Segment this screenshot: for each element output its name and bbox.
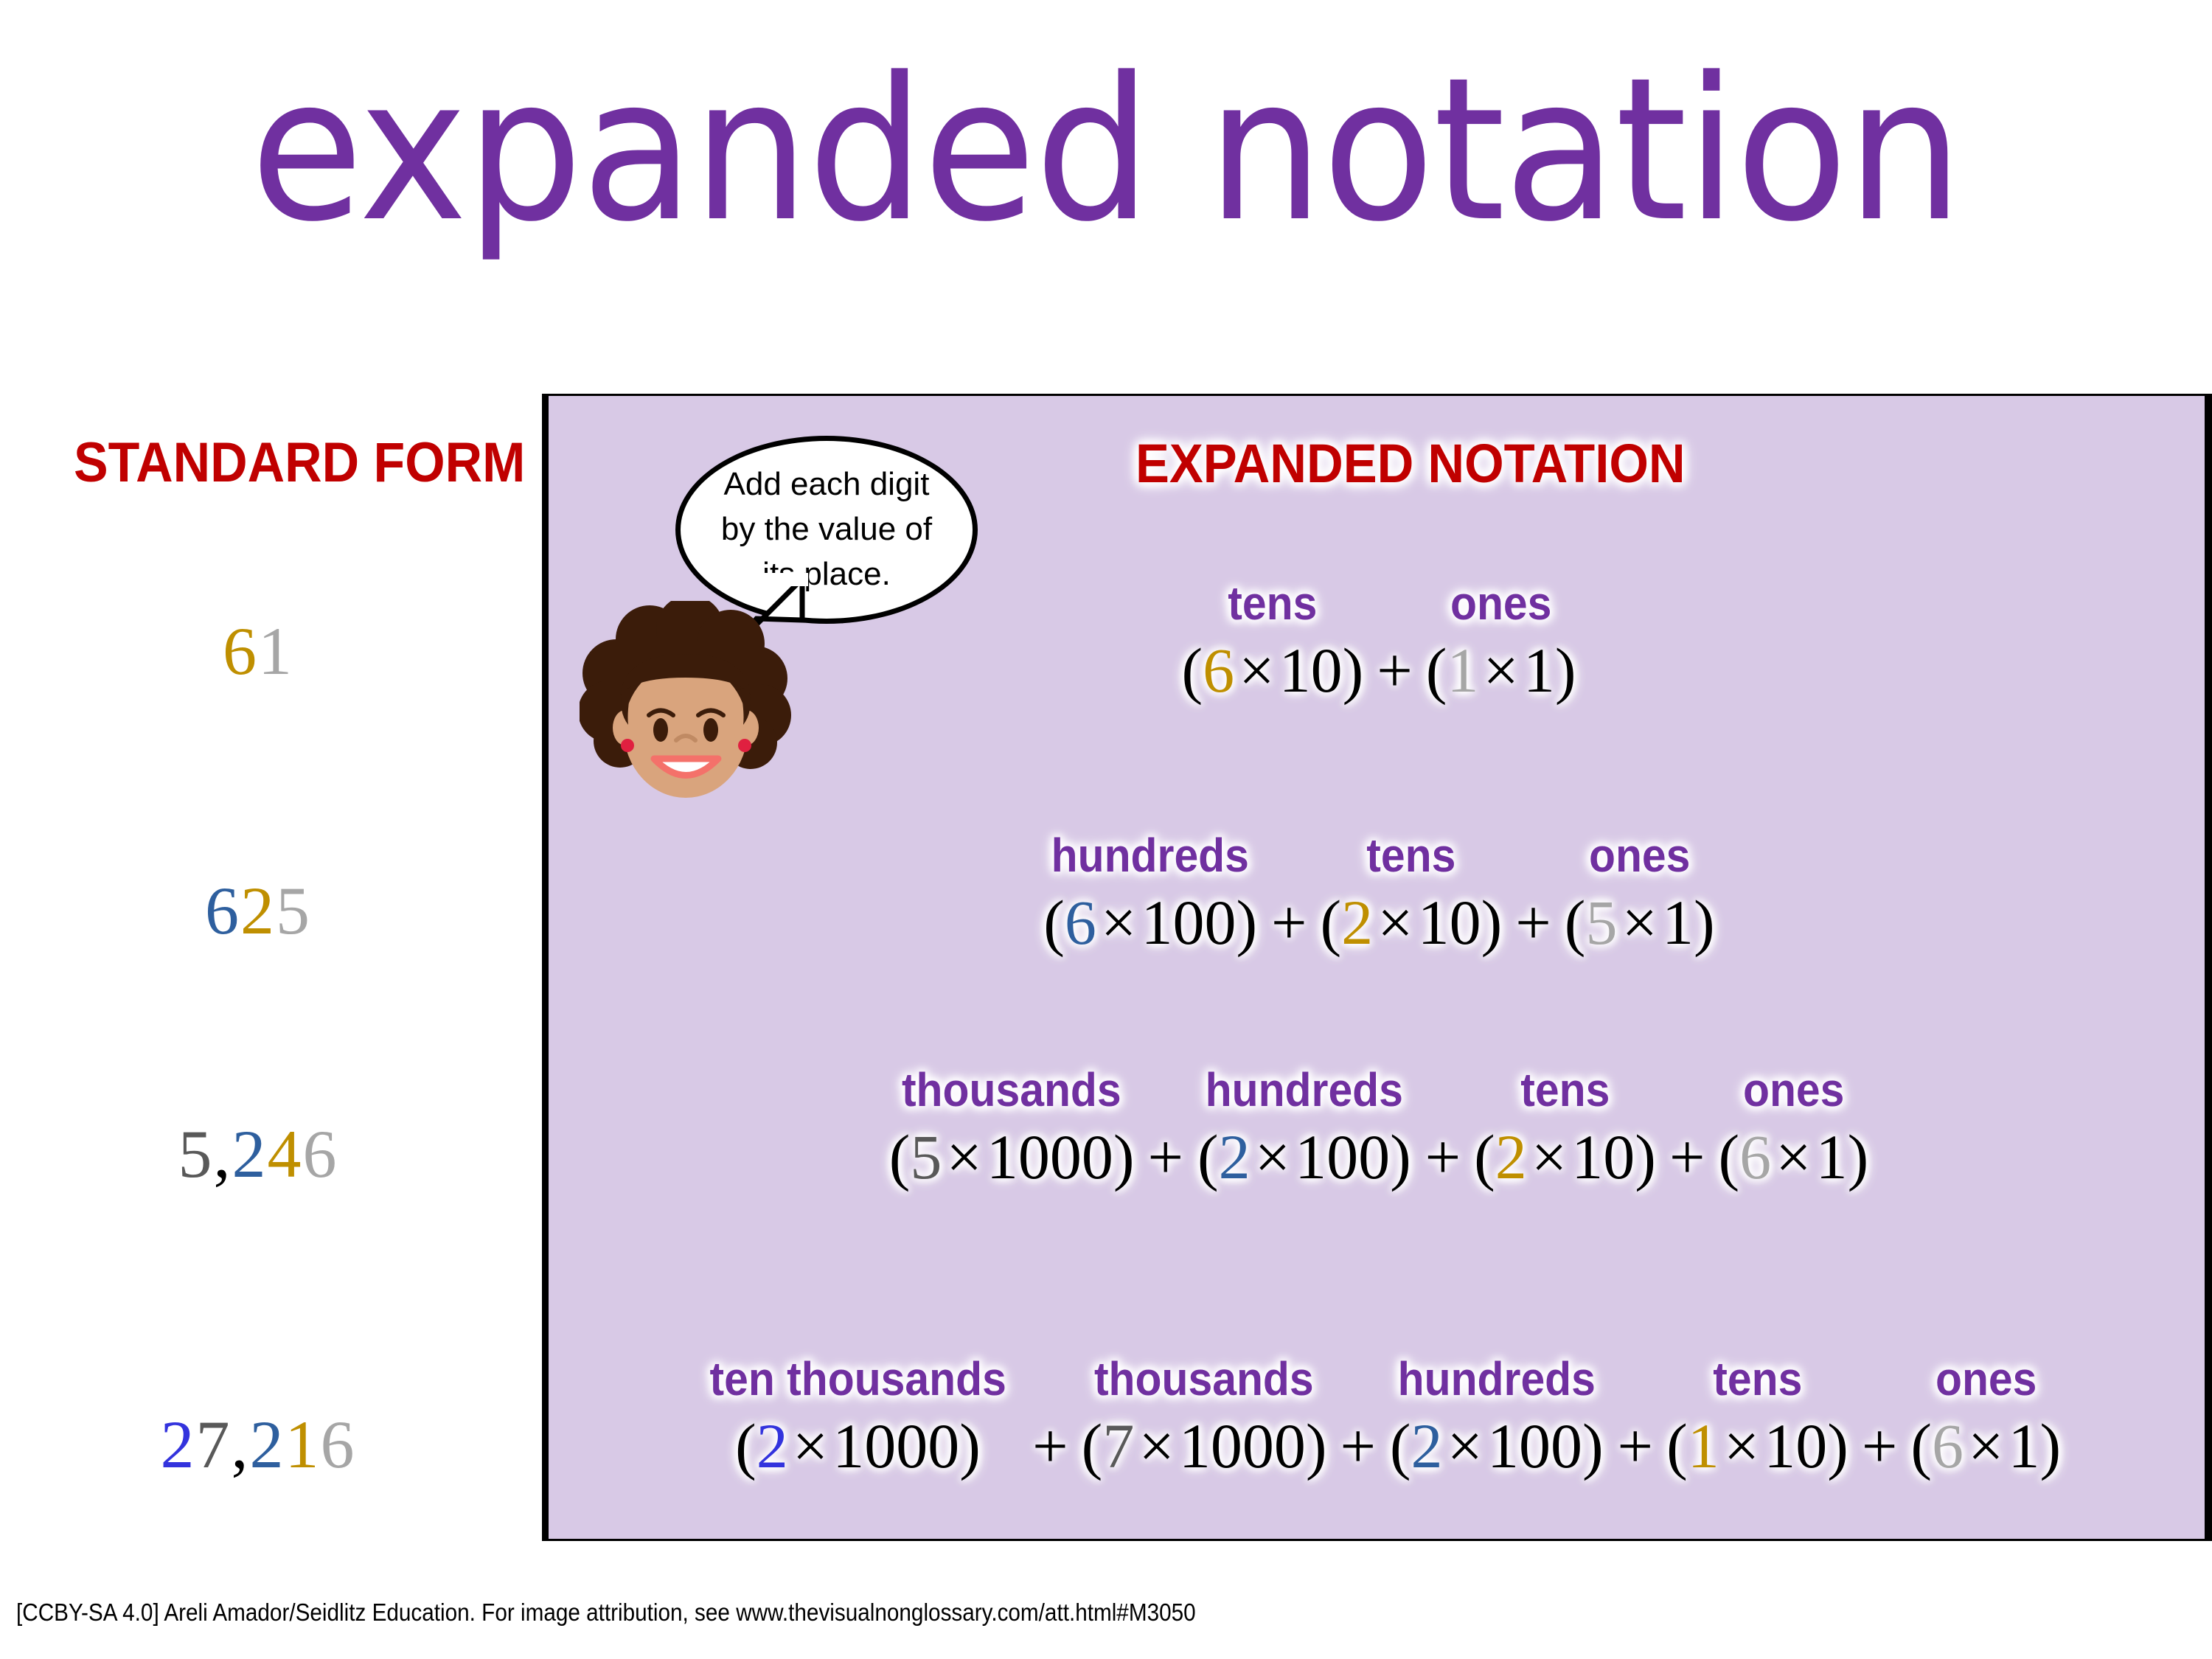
- place-value-expression: (2×100): [1390, 1413, 1604, 1479]
- expression-digit: 5: [910, 1121, 942, 1192]
- place-value-expression: (6×10): [1181, 637, 1363, 703]
- expression-digit: 6: [1065, 887, 1096, 958]
- place-value-label: thousands: [1094, 1355, 1314, 1402]
- place-value-label: ten thousands: [709, 1355, 1006, 1402]
- place-value-expression: (2×1000): [735, 1413, 981, 1479]
- place-value-number: 10: [1279, 635, 1343, 706]
- multiply-operator: ×: [1527, 1121, 1572, 1192]
- standard-form-digit: 2: [161, 1407, 196, 1482]
- plus-operator: +: [1326, 1413, 1389, 1479]
- left-earring-icon: [621, 739, 634, 752]
- place-value-term: tens(1×10): [1666, 1355, 1848, 1479]
- place-value-term: hundreds(2×100): [1389, 1355, 1604, 1479]
- place-value-label: thousands: [902, 1066, 1121, 1113]
- expression-digit: 6: [1739, 1121, 1771, 1192]
- expanded-notation-column-header: EXPANDED NOTATION: [1135, 432, 1686, 495]
- place-value-expression: (2×100): [1197, 1124, 1411, 1190]
- multiply-operator: ×: [1964, 1411, 2008, 1481]
- place-value-number: 10: [1764, 1411, 1827, 1481]
- multiply-operator: ×: [1771, 1121, 1816, 1192]
- plus-operator: +: [1502, 889, 1565, 956]
- place-value-label: hundreds: [1051, 832, 1249, 879]
- plus-operator: +: [1848, 1413, 1911, 1479]
- place-value-expression: (2×10): [1474, 1124, 1656, 1190]
- place-value-term: ones(6×1): [1718, 1066, 1868, 1190]
- place-value-number: 1: [1662, 887, 1694, 958]
- expression-digit: 5: [1585, 887, 1617, 958]
- standard-form-digit: 6: [223, 613, 258, 689]
- expression-digit: 1: [1688, 1411, 1719, 1481]
- expression-digit: 1: [1447, 635, 1478, 706]
- multiply-operator: ×: [1478, 635, 1523, 706]
- place-value-expression: (1×1): [1426, 637, 1576, 703]
- place-value-number: 1000: [1179, 1411, 1306, 1481]
- plus-operator: +: [1135, 1124, 1197, 1190]
- place-value-term: tens(6×10): [1181, 580, 1363, 703]
- place-value-expression: (7×1000): [1082, 1413, 1327, 1479]
- place-value-label: hundreds: [1398, 1355, 1596, 1402]
- place-value-term: tens(2×10): [1320, 832, 1502, 956]
- multiply-operator: ×: [1251, 1121, 1295, 1192]
- plus-operator: +: [1412, 1124, 1475, 1190]
- plus-operator: +: [1019, 1413, 1082, 1479]
- place-value-label: tens: [1520, 1066, 1610, 1113]
- plus-operator: +: [1258, 889, 1321, 956]
- place-value-number: 1: [2008, 1411, 2040, 1481]
- standard-form-digit: 2: [232, 1116, 268, 1192]
- multiply-operator: ×: [1096, 887, 1141, 958]
- standard-form-digit: ,: [214, 1116, 232, 1192]
- place-value-expression: (5×1000): [889, 1124, 1135, 1190]
- expanded-notation-row: thousands(5×1000)+hundreds(2×100)+tens(2…: [553, 1066, 2205, 1190]
- place-value-label: tens: [1366, 832, 1455, 879]
- expression-digit: 2: [757, 1411, 788, 1481]
- place-value-expression: (1×10): [1666, 1413, 1848, 1479]
- standard-form-digit: 6: [321, 1407, 356, 1482]
- expression-digit: 7: [1102, 1411, 1134, 1481]
- panel-right-border: [2205, 394, 2212, 1541]
- expression-digit: 2: [1495, 1121, 1527, 1192]
- place-value-number: 1000: [832, 1411, 959, 1481]
- right-earring-icon: [738, 739, 751, 752]
- standard-form-digit: 2: [250, 1407, 285, 1482]
- multiply-operator: ×: [788, 1411, 833, 1481]
- place-value-label: hundreds: [1206, 1066, 1403, 1113]
- expanded-notation-row: hundreds(6×100)+tens(2×10)+ones(5×1): [553, 832, 2205, 956]
- place-value-number: 10: [1418, 887, 1481, 958]
- multiply-operator: ×: [1443, 1411, 1488, 1481]
- place-value-term: ten thousands(2×1000): [697, 1355, 1019, 1479]
- expression-digit: 6: [1203, 635, 1234, 706]
- place-value-label: tens: [1228, 580, 1317, 627]
- left-eye: [653, 718, 668, 742]
- place-value-label: ones: [1743, 1066, 1844, 1113]
- expression-digit: 2: [1341, 887, 1373, 958]
- place-value-term: ones(5×1): [1565, 832, 1715, 956]
- expanded-notation-row: ten thousands(2×1000)+thousands(7×1000)+…: [553, 1355, 2205, 1479]
- place-value-term: thousands(5×1000): [889, 1066, 1135, 1190]
- place-value-expression: (5×1): [1565, 889, 1715, 956]
- place-value-label: ones: [1589, 832, 1690, 879]
- place-value-term: hundreds(6×100): [1043, 832, 1258, 956]
- standard-form-value: 5,246: [0, 1115, 516, 1193]
- place-value-expression: (6×1): [1910, 1413, 2061, 1479]
- multiply-operator: ×: [1134, 1411, 1179, 1481]
- multiply-operator: ×: [1373, 887, 1418, 958]
- place-value-number: 100: [1295, 1121, 1390, 1192]
- standard-form-value: 625: [0, 872, 516, 950]
- place-value-term: thousands(7×1000): [1082, 1355, 1327, 1479]
- place-value-term: hundreds(2×100): [1197, 1066, 1412, 1190]
- place-value-term: ones(6×1): [1910, 1355, 2061, 1479]
- expression-digit: 2: [1411, 1411, 1443, 1481]
- standard-form-digit: 2: [240, 873, 276, 948]
- multiply-operator: ×: [1719, 1411, 1764, 1481]
- place-value-expression: (6×100): [1043, 889, 1257, 956]
- multiply-operator: ×: [942, 1121, 987, 1192]
- standard-form-digit: 5: [276, 873, 311, 948]
- standard-form-digit: 1: [258, 613, 293, 689]
- plus-operator: +: [1363, 637, 1426, 703]
- standard-form-value: 27,216: [0, 1405, 516, 1484]
- place-value-term: ones(1×1): [1426, 580, 1576, 703]
- standard-form-digit: 1: [285, 1407, 321, 1482]
- place-value-label: tens: [1713, 1355, 1802, 1402]
- standard-form-value: 61: [0, 612, 516, 690]
- place-value-number: 1000: [987, 1121, 1113, 1192]
- standard-form-digit: 6: [303, 1116, 338, 1192]
- place-value-number: 10: [1571, 1121, 1635, 1192]
- place-value-expression: (6×1): [1718, 1124, 1868, 1190]
- expression-digit: 2: [1219, 1121, 1251, 1192]
- standard-form-digit: ,: [232, 1407, 250, 1482]
- expanded-notation-row: tens(6×10)+ones(1×1): [553, 580, 2205, 703]
- standard-form-digit: 7: [196, 1407, 232, 1482]
- place-value-term: tens(2×10): [1474, 1066, 1656, 1190]
- place-value-number: 1: [1523, 635, 1555, 706]
- place-value-number: 1: [1816, 1121, 1848, 1192]
- place-value-label: ones: [1935, 1355, 2037, 1402]
- right-eye: [703, 718, 718, 742]
- plus-operator: +: [1656, 1124, 1719, 1190]
- standard-form-digit: 6: [205, 873, 240, 948]
- standard-form-digit: 5: [178, 1116, 214, 1192]
- expression-digit: 6: [1932, 1411, 1964, 1481]
- page-title: expanded notation: [77, 52, 2135, 249]
- place-value-number: 100: [1487, 1411, 1582, 1481]
- place-value-expression: (2×10): [1320, 889, 1502, 956]
- place-value-label: ones: [1450, 580, 1551, 627]
- standard-form-column-header: STANDARD FORM: [74, 431, 525, 495]
- multiply-operator: ×: [1617, 887, 1662, 958]
- attribution-footer: [CCBY-SA 4.0] Areli Amador/Seidlitz Educ…: [16, 1599, 1196, 1627]
- place-value-number: 100: [1141, 887, 1236, 958]
- standard-form-digit: 4: [268, 1116, 303, 1192]
- plus-operator: +: [1604, 1413, 1667, 1479]
- multiply-operator: ×: [1234, 635, 1279, 706]
